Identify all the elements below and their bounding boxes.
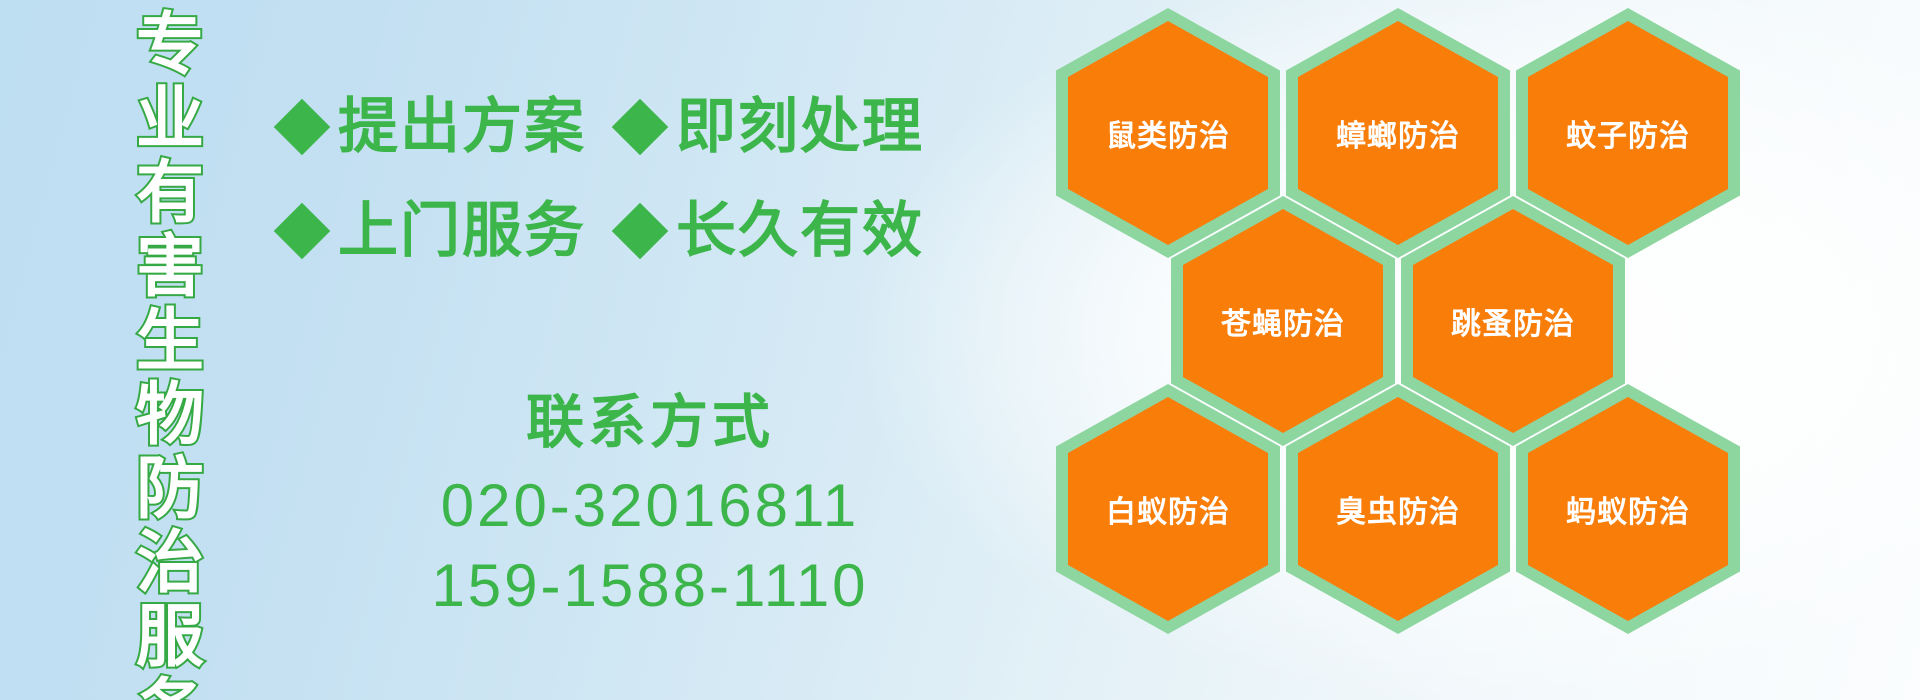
diamond-icon [612,99,669,156]
service-label: 蟑螂防治 [1336,111,1460,155]
feature-item: 提出方案 [282,94,586,160]
feature-label: 即刻处理 [676,94,924,160]
service-label: 苍蝇防治 [1221,299,1345,343]
diamond-icon [274,203,331,260]
feature-label: 上门服务 [338,198,586,264]
hexagon-inner: 蚂蚁防治 [1528,397,1728,621]
feature-label: 长久有效 [676,198,924,264]
feature-row: 提出方案 即刻处理 [282,94,924,160]
phone-number-mobile[interactable]: 159-1588-1110 [330,546,970,626]
feature-item: 长久有效 [620,198,924,264]
vertical-title-char: 物 [136,378,204,452]
promotional-banner: 专 业 有 害 生 物 防 治 服 务 提出方案 即刻处理 上门服务 长久有效 [0,0,1920,700]
hexagon-inner: 白蚁防治 [1068,397,1268,621]
diamond-icon [274,99,331,156]
contact-heading: 联系方式 [330,388,970,458]
service-label: 跳蚤防治 [1451,299,1575,343]
diamond-icon [612,203,669,260]
service-label: 蚂蚁防治 [1566,487,1690,531]
contact-block: 联系方式 020-32016811 159-1588-1110 [330,388,970,626]
vertical-title-char: 业 [136,82,204,156]
service-label: 臭虫防治 [1336,487,1460,531]
service-label: 蚊子防治 [1566,111,1690,155]
hexagon-inner: 蚊子防治 [1528,21,1728,245]
service-label: 鼠类防治 [1106,111,1230,155]
feature-item: 即刻处理 [620,94,924,160]
vertical-title-char: 有 [136,156,204,230]
vertical-title-char: 务 [136,674,204,700]
hexagon-inner: 蟑螂防治 [1298,21,1498,245]
feature-row: 上门服务 长久有效 [282,198,924,264]
vertical-title-char: 防 [136,452,204,526]
vertical-title-char: 专 [136,8,204,82]
vertical-title-char: 治 [136,526,204,600]
vertical-title-char: 生 [136,304,204,378]
hexagon-inner: 苍蝇防治 [1183,209,1383,433]
feature-item: 上门服务 [282,198,586,264]
hexagon-inner: 鼠类防治 [1068,21,1268,245]
service-label: 白蚁防治 [1106,487,1230,531]
phone-number-landline[interactable]: 020-32016811 [330,466,970,546]
hexagon-inner: 跳蚤防治 [1413,209,1613,433]
hexagon-inner: 臭虫防治 [1298,397,1498,621]
feature-label: 提出方案 [338,94,586,160]
service-hexagon-grid: 鼠类防治 蟑螂防治 蚊子防治 苍蝇防治 跳蚤防治 白蚁防治 [1056,0,1876,700]
vertical-title-char: 服 [136,600,204,674]
vertical-title-char: 害 [136,230,204,304]
vertical-title: 专 业 有 害 生 物 防 治 服 务 [124,8,216,688]
